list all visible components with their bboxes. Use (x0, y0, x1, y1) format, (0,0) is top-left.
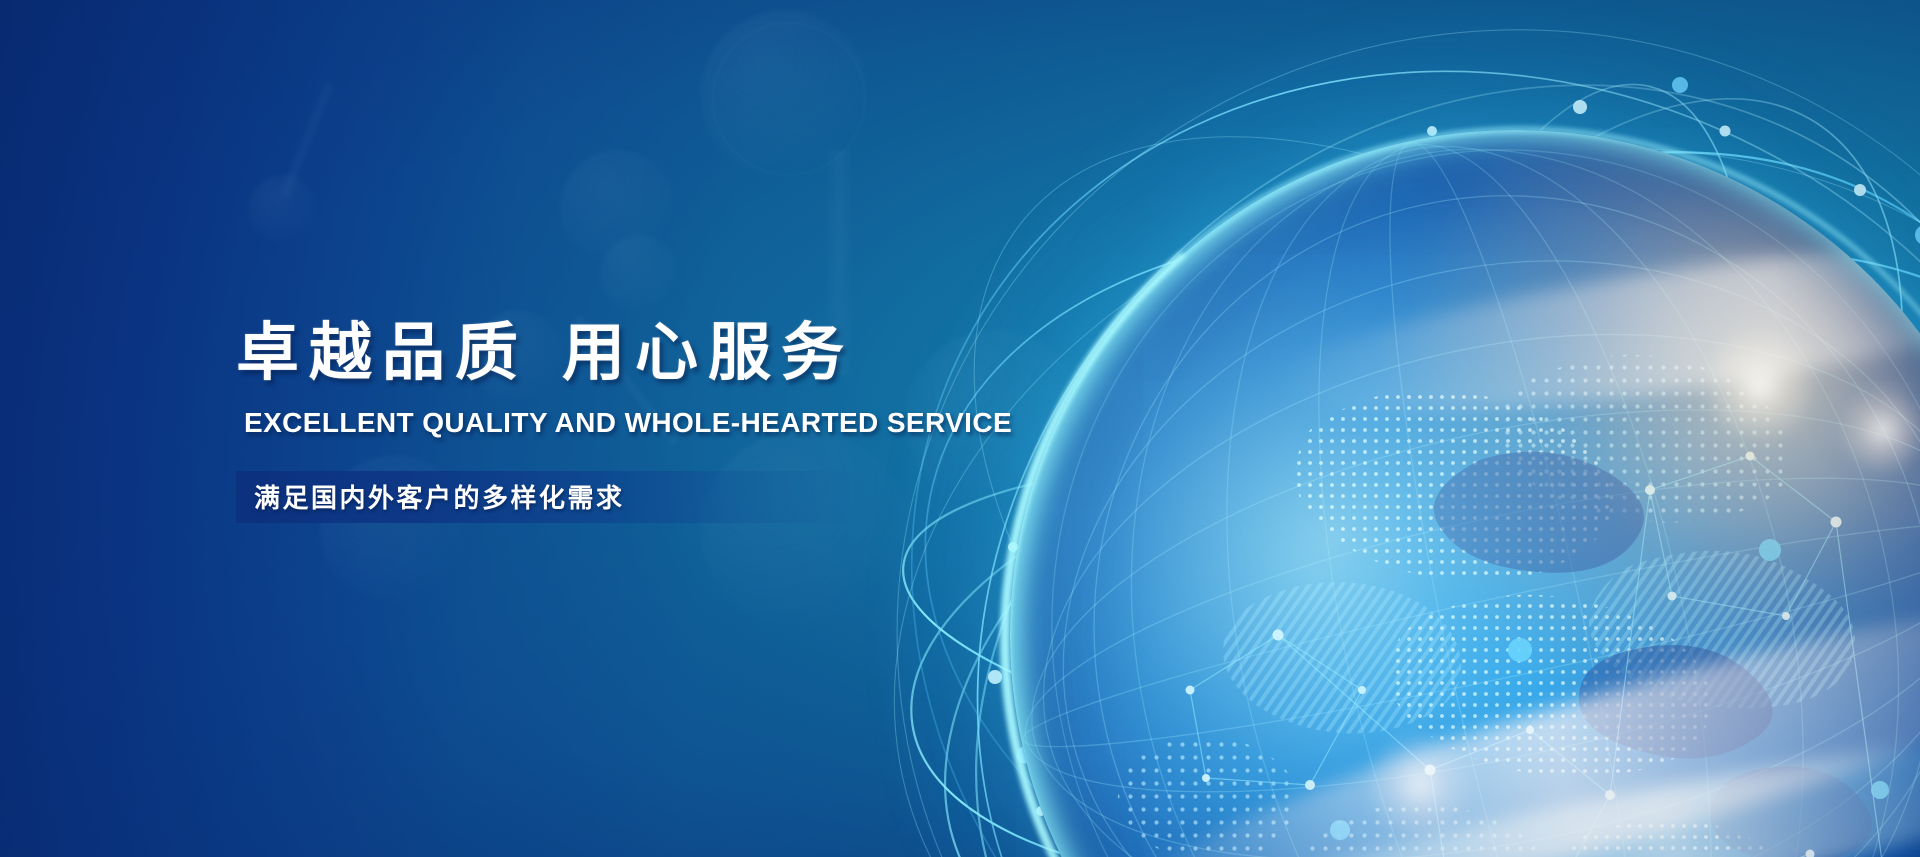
tagline-text: 满足国内外客户的多样化需求 (236, 478, 625, 515)
headline-part-2: 用心服务 (562, 316, 854, 389)
page-title: 卓越品质用心服务 (236, 318, 1136, 389)
hero-banner: 卓越品质用心服务 EXCELLENT QUALITY AND WHOLE-HEA… (0, 0, 1920, 857)
banner-copy: 卓越品质用心服务 EXCELLENT QUALITY AND WHOLE-HEA… (236, 318, 1136, 523)
subheadline: EXCELLENT QUALITY AND WHOLE-HEARTED SERV… (244, 407, 1136, 439)
headline-part-1: 卓越品质 (236, 316, 528, 389)
tagline-bar: 满足国内外客户的多样化需求 (236, 471, 936, 523)
